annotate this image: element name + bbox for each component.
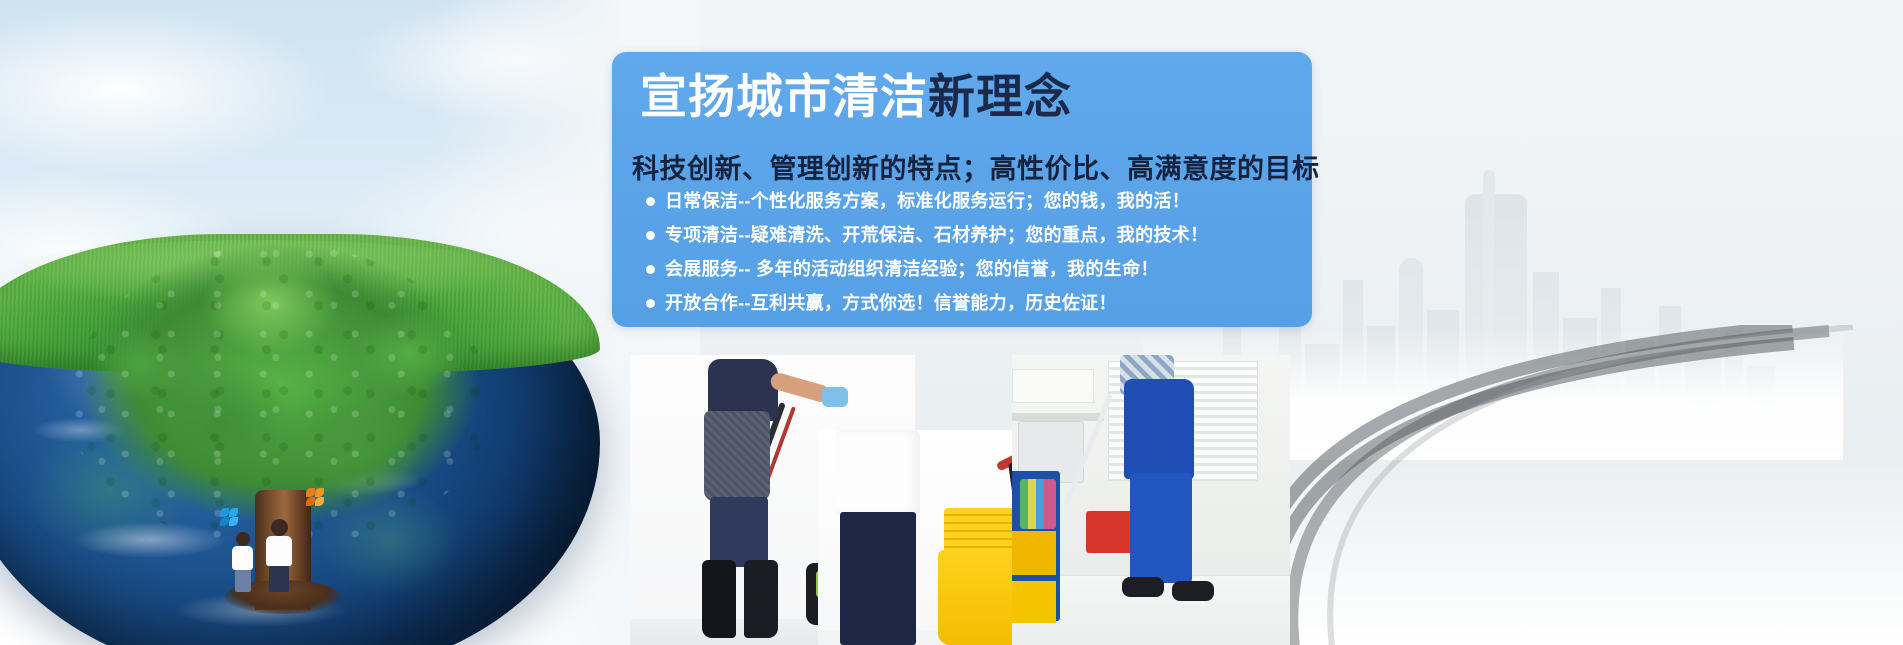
pinwheel-orange-icon	[304, 486, 326, 508]
kitchen-counter	[1012, 413, 1104, 421]
bullet-text: 专项清洁--疑难清洗、开荒保洁、石材养护；您的重点，我的技术！	[665, 226, 1208, 244]
list-item: 日常保洁--个性化服务方案，标准化服务运行；您的钱，我的活！	[646, 192, 1208, 210]
bullet-text: 日常保洁--个性化服务方案，标准化服务运行；您的钱，我的活！	[665, 192, 1190, 210]
child-figure-right	[266, 519, 292, 592]
message-card: 宣扬城市清洁新理念 科技创新、管理创新的特点；高性价比、高满意度的目标 日常保洁…	[612, 52, 1312, 327]
headline-dark-part: 新理念	[928, 70, 1072, 123]
worker-legs	[1130, 473, 1192, 583]
worker-shoe-right	[1172, 581, 1214, 601]
worker-overalls	[1124, 379, 1194, 479]
cart-bin-top	[1012, 531, 1056, 575]
kitchen-mopping-cleaning-cart-photo	[1012, 355, 1290, 645]
child-figure-left	[232, 532, 253, 592]
worker-glove	[822, 387, 848, 407]
bullet-text: 开放合作--互利共赢，方式你选！信誉能力，历史佐证！	[665, 294, 1117, 312]
worker-legs	[710, 497, 768, 567]
child-body	[232, 546, 253, 570]
promo-banner: 宣扬城市清洁新理念 科技创新、管理创新的特点；高性价比、高满意度的目标 日常保洁…	[0, 0, 1903, 645]
bullet-dot-icon	[646, 231, 655, 240]
cart-bin-bottom	[1012, 581, 1056, 623]
worker-boot-right	[744, 560, 778, 638]
worker-shirt	[836, 430, 920, 514]
photo-collage	[630, 355, 1290, 645]
list-item: 开放合作--互利共赢，方式你选！信誉能力，历史佐证！	[646, 294, 1208, 312]
worker-pants	[840, 512, 916, 645]
tree-icon	[60, 240, 500, 600]
subheadline: 科技创新、管理创新的特点；高性价比、高满意度的目标	[632, 147, 1332, 186]
bullet-dot-icon	[646, 299, 655, 308]
page-title: 宣扬城市清洁新理念	[640, 72, 1072, 123]
pinwheel-blue-icon	[218, 506, 240, 528]
headline-white-part: 宣扬城市清洁	[640, 70, 928, 123]
child-legs	[269, 566, 289, 592]
worker-shoe-left	[1122, 577, 1164, 597]
earth-globe-tree-illustration	[0, 240, 610, 645]
bullet-text: 会展服务-- 多年的活动组织清洁经验；您的信誉，我的生命！	[665, 260, 1159, 278]
kitchen-cabinet	[1012, 369, 1094, 403]
child-body	[266, 536, 292, 566]
child-head	[236, 532, 250, 546]
bullet-dot-icon	[646, 265, 655, 274]
cleaning-supplies	[1020, 479, 1056, 529]
list-item: 会展服务-- 多年的活动组织清洁经验；您的信誉，我的生命！	[646, 260, 1208, 278]
child-legs	[235, 570, 251, 592]
worker-apron	[704, 411, 770, 501]
service-bullet-list: 日常保洁--个性化服务方案，标准化服务运行；您的钱，我的活！ 专项清洁--疑难清…	[646, 192, 1208, 328]
worker-boot-left	[702, 560, 736, 638]
list-item: 专项清洁--疑难清洗、开荒保洁、石材养护；您的重点，我的技术！	[646, 226, 1208, 244]
bullet-dot-icon	[646, 197, 655, 206]
child-head	[271, 519, 288, 536]
